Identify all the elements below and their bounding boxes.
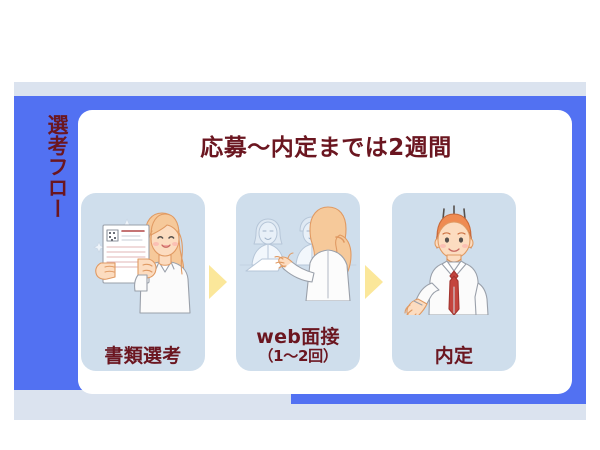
online-interview-icon xyxy=(236,193,360,301)
man-offering-handshake-icon xyxy=(392,197,516,315)
step-card-2-caption: web面接 （1～2回） xyxy=(236,327,360,365)
woman-holding-resume-icon xyxy=(81,197,205,315)
step-arrow-right-icon xyxy=(209,265,227,299)
step-3-label: 内定 xyxy=(392,346,516,367)
step-card-2[interactable]: web面接 （1～2回） xyxy=(236,193,360,371)
slide-canvas: 選考フロー 応募～内定までは2週間 xyxy=(0,0,600,450)
process-flow: 書類選考 xyxy=(81,193,515,371)
step-card-1[interactable]: 書類選考 xyxy=(81,193,205,371)
side-label-vertical: 選考フロー xyxy=(34,114,68,264)
step-card-3-caption: 内定 xyxy=(392,346,516,367)
step-arrow-right-icon xyxy=(365,265,383,299)
step-card-3[interactable]: 内定 xyxy=(392,193,516,371)
page-title: 応募～内定までは2週間 xyxy=(96,128,556,162)
step-1-label: 書類選考 xyxy=(81,346,205,367)
step-card-1-caption: 書類選考 xyxy=(81,346,205,367)
step-2-label: web面接 xyxy=(236,327,360,348)
step-2-sublabel: （1～2回） xyxy=(236,348,360,365)
